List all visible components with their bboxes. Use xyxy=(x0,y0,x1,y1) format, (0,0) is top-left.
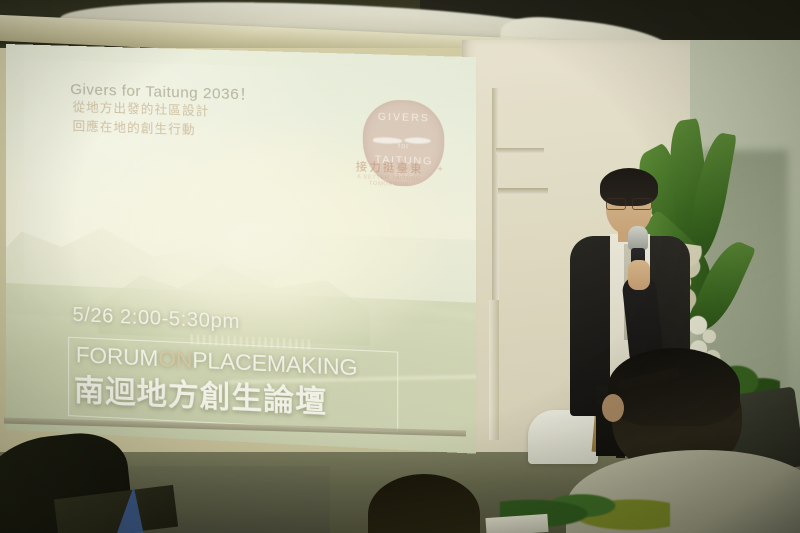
wall-recess-step xyxy=(489,300,499,440)
foreground-blue-object xyxy=(116,485,147,533)
audience-second-hair xyxy=(368,474,480,533)
microphone-head xyxy=(628,226,648,250)
wall-recess-shelf-lower xyxy=(498,188,548,195)
eyeglasses-icon xyxy=(606,198,652,208)
conference-photo-scene: Givers for Taitung 2036！ 從地方出發的社區設計 回應在地… xyxy=(0,0,800,533)
speaker-hand xyxy=(628,260,650,290)
projection-screen: Givers for Taitung 2036！ 從地方出發的社區設計 回應在地… xyxy=(6,44,476,454)
logo-plus-mark: + xyxy=(437,164,443,174)
slide-title-en-on: ON xyxy=(158,345,192,372)
foreground-paper xyxy=(485,514,548,533)
wall-recess-shelf-upper xyxy=(496,148,544,154)
audience-front-ear xyxy=(602,394,624,422)
slide-subtitle: 從地方出發的社區設計 回應在地的創生行動 xyxy=(73,98,210,141)
